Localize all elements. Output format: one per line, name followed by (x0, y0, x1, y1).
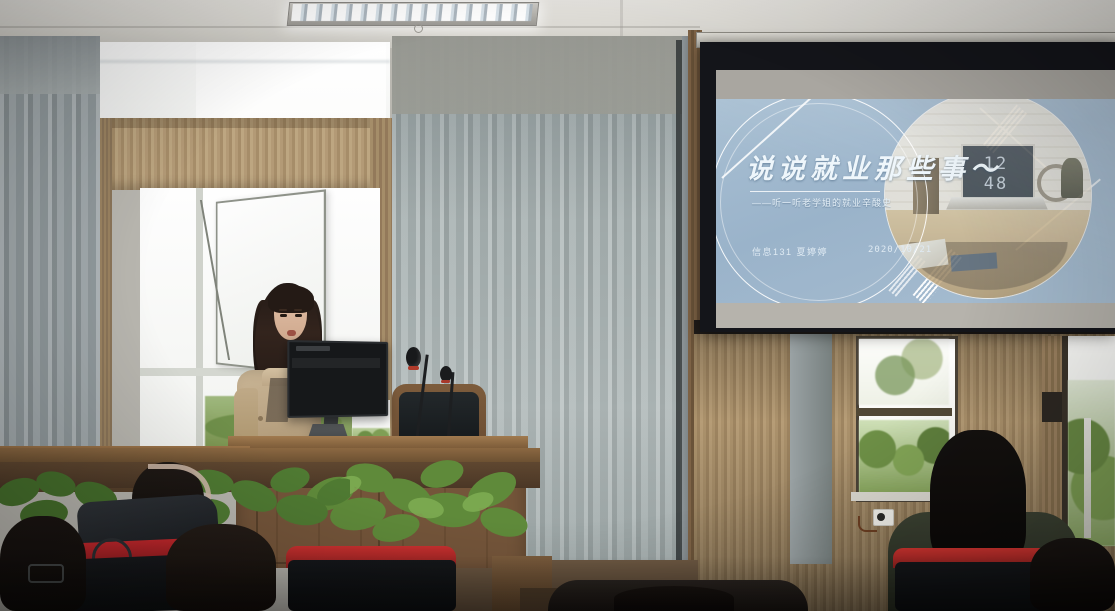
presenter-fringe (268, 285, 314, 313)
ceiling-seam (0, 26, 700, 28)
slide-subtitle: ——听一听老学姐的就业辛酸史 (752, 196, 892, 209)
monitor-brand-label (296, 346, 330, 351)
slide-author: 信息131 夏婷婷 (752, 245, 828, 258)
projection-screen-bottom-band (716, 302, 1115, 328)
podium-monitor (287, 340, 388, 418)
slide-title-rule (750, 191, 880, 192)
presenter-eyebrow-right (294, 309, 302, 311)
skyline (60, 60, 390, 63)
presenter-coat-button-1 (258, 416, 263, 421)
presentation-slide: 12 48 说说就业那些事～ ——听一听老学姐的就业辛酸史 信息131 夏婷婷 … (716, 99, 1115, 303)
left-window-mullion-vertical (196, 188, 203, 448)
slide-date: 2020/10/21 (868, 245, 932, 255)
right-window-1-mullion (856, 408, 952, 416)
projection-screen-top-band (716, 70, 1115, 100)
right-window-2-foliage (1068, 380, 1115, 546)
curtain-left-header (0, 36, 100, 94)
right-window-1-tree (859, 339, 949, 405)
photo-desk-plant (1061, 158, 1083, 198)
presenter-eye-left (280, 314, 287, 317)
right-window-2-strip (1084, 418, 1091, 538)
presenter-mouth (287, 330, 296, 336)
wood-panel-above-window (100, 118, 390, 190)
microphone-2-indicator (441, 380, 450, 383)
ceiling-light-louvers (291, 4, 533, 21)
presenter-eyebrow-left (279, 309, 287, 311)
slide-title: 说说就业那些事～ (746, 147, 996, 186)
ceiling-hook (414, 24, 423, 33)
podium-countertop (228, 436, 528, 448)
audience-glasses (28, 564, 64, 583)
curtain-left (0, 36, 100, 466)
wood-panel-shadow (100, 118, 390, 128)
wall-outlet-wire (858, 516, 877, 532)
audience-head-far-right (1030, 538, 1115, 611)
wall-outlet-socket (877, 513, 885, 521)
microphone-1-head (406, 347, 421, 368)
microphone-1-indicator (408, 366, 419, 370)
audience-head-center (166, 524, 276, 611)
photo-laptop-keyboard (946, 197, 1048, 209)
monitor-screen-sheen (292, 358, 380, 368)
lecture-hall-photo: 12 48 说说就业那些事～ ——听一听老学姐的就业辛酸史 信息131 夏婷婷 … (0, 0, 1115, 611)
presenter-eye-right (295, 314, 302, 317)
audience-chair-back-2 (288, 560, 456, 611)
photo-notebook (950, 252, 997, 271)
right-window-2-bar (1042, 392, 1062, 422)
curtain-sliver-right (790, 334, 832, 564)
audience-head-bottom-center (614, 586, 734, 611)
